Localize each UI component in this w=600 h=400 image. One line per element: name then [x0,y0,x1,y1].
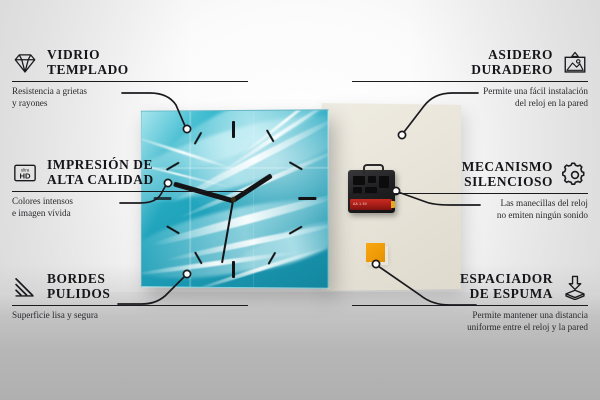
diamond-icon [12,50,38,76]
feature-bordes-pulidos[interactable]: BORDES PULIDOS Superficie lisa y segura [12,272,248,322]
feature-asidero-duradero[interactable]: ASIDERO DURADERO Permite una fácil insta… [352,48,588,109]
feature-title-line2: SILENCIOSO [462,175,553,190]
hour-mark-4 [289,226,303,236]
hour-mark-7 [194,251,203,264]
feature-title-line1: ASIDERO [471,48,553,63]
wall-frame-hanger-icon [562,50,588,76]
feature-espaciador-de-espuma[interactable]: ESPACIADOR DE ESPUMA Permite mantener un… [352,272,588,333]
feature-divider [352,193,588,194]
feature-title: MECANISMO SILENCIOSO [462,160,553,189]
feature-desc-line1: Permite una fácil instalación [352,86,588,97]
feature-header: ESPACIADOR DE ESPUMA [352,272,588,301]
feature-title: ESPACIADOR DE ESPUMA [460,272,553,301]
feature-title-line1: ESPACIADOR [460,272,553,287]
feature-title-line1: VIDRIO [47,48,129,63]
feature-divider [352,81,588,82]
feature-desc-line2: uniforme entre el reloj y la pared [352,322,588,333]
feature-title: VIDRIO TEMPLADO [47,48,129,77]
svg-text:HD: HD [19,171,31,180]
polished-edges-icon [12,274,38,300]
feature-vidrio-templado[interactable]: VIDRIO TEMPLADO Resistencia a grietas y … [12,48,248,109]
feature-header: VIDRIO TEMPLADO [12,48,248,77]
hour-mark-2 [289,161,303,171]
ultra-hd-badge-icon: ultra HD [12,160,38,186]
feature-description: Permite una fácil instalación del reloj … [352,86,588,109]
feature-desc-line2: del reloj en la pared [352,98,588,109]
feature-description: Superficie lisa y segura [12,310,248,321]
infographic-canvas: AA 1.5V [0,0,600,400]
feature-header: MECANISMO SILENCIOSO [352,160,588,189]
feature-divider [12,81,248,82]
feature-header: ASIDERO DURADERO [352,48,588,77]
feature-title-line2: DURADERO [471,63,553,78]
hour-mark-12 [232,121,235,138]
feature-title: IMPRESIÓN DE ALTA CALIDAD [47,158,154,187]
feature-title-line2: TEMPLADO [47,63,129,78]
feature-description: Permite mantener una distancia uniforme … [352,310,588,333]
feature-mecanismo-silencioso[interactable]: MECANISMO SILENCIOSO Las manecillas del … [352,160,588,221]
gear-icon [562,162,588,188]
foam-spacer-icon [562,274,588,300]
feature-title-line1: IMPRESIÓN DE [47,158,154,173]
foam-spacer-pad [366,243,385,262]
feature-desc-line2: e imagen vívida [12,208,248,219]
feature-desc-line2: y rayones [12,98,248,109]
feature-title-line2: PULIDOS [47,287,110,302]
feature-impresion-alta-calidad[interactable]: ultra HD IMPRESIÓN DE ALTA CALIDAD Color… [12,158,248,219]
feature-desc-line1: Permite mantener una distancia [352,310,588,321]
feature-title-line2: DE ESPUMA [460,287,553,302]
feature-desc-line1: Colores intensos [12,196,248,207]
feature-title: ASIDERO DURADERO [471,48,553,77]
feature-description: Las manecillas del reloj no emiten ningú… [352,198,588,221]
hour-mark-1 [266,129,275,142]
feature-title-line1: MECANISMO [462,160,553,175]
feature-description: Resistencia a grietas y rayones [12,86,248,109]
feature-description: Colores intensos e imagen vívida [12,196,248,219]
feature-divider [352,305,588,306]
hour-mark-3 [298,197,316,200]
hour-mark-8 [166,225,180,235]
hour-mark-5 [268,252,277,265]
feature-title-line2: ALTA CALIDAD [47,173,154,188]
feature-divider [12,191,248,192]
feature-desc-line2: no emiten ningún sonido [352,210,588,221]
hour-mark-11 [194,132,203,145]
feature-title-line1: BORDES [47,272,110,287]
feature-divider [12,305,248,306]
feature-desc-line1: Resistencia a grietas [12,86,248,97]
feature-title: BORDES PULIDOS [47,272,110,301]
feature-desc-line1: Superficie lisa y segura [12,310,248,321]
feature-desc-line1: Las manecillas del reloj [352,198,588,209]
feature-header: ultra HD IMPRESIÓN DE ALTA CALIDAD [12,158,248,187]
feature-header: BORDES PULIDOS [12,272,248,301]
